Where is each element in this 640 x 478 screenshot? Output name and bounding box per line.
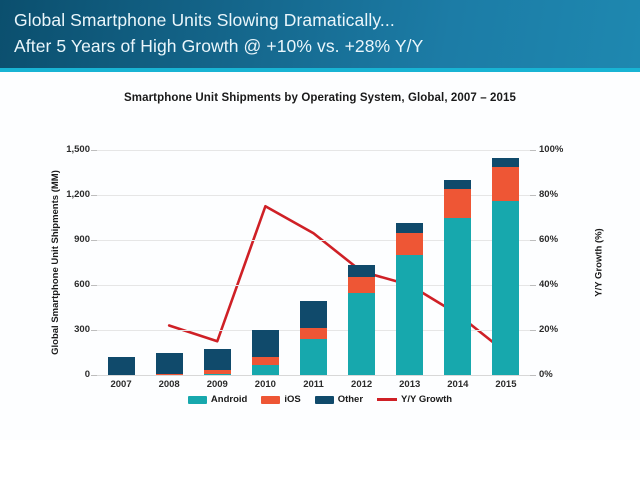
y-axis-right-tick-20: 20% <box>539 324 558 335</box>
legend-item-android[interactable]: Android <box>188 394 247 405</box>
bar-segment-other-2007 <box>108 357 135 375</box>
bar-segment-other-2011 <box>300 301 327 328</box>
y-axis-left-tick-600: 600 <box>74 279 90 290</box>
y-axis-right-tick-mark-0 <box>530 375 536 376</box>
legend-item-ios[interactable]: iOS <box>261 394 300 405</box>
bar-segment-other-2013 <box>396 223 423 233</box>
bar-2012[interactable] <box>348 265 375 375</box>
bar-2011[interactable] <box>300 301 327 375</box>
y-axis-left-tick-900: 900 <box>74 234 90 245</box>
bar-2009[interactable] <box>204 349 231 375</box>
y-axis-left-tick-300: 300 <box>74 324 90 335</box>
x-axis-tick-2014: 2014 <box>433 379 483 390</box>
legend-label-other: Other <box>338 394 363 405</box>
x-axis-tick-2015: 2015 <box>481 379 531 390</box>
x-axis-tick-2007: 2007 <box>96 379 146 390</box>
bar-segment-other-2014 <box>444 180 471 189</box>
bar-segment-android-2015 <box>492 201 519 375</box>
bar-2014[interactable] <box>444 180 471 375</box>
slide-footer: @KPCB Source: Morgan Stanley Research, 5… <box>0 440 640 478</box>
x-axis-tick-2010: 2010 <box>240 379 290 390</box>
gridline-1500 <box>97 150 530 151</box>
slide-body: Smartphone Unit Shipments by Operating S… <box>0 72 640 440</box>
y-axis-right-title-text: Y/Y Growth (%) <box>594 228 605 296</box>
bar-segment-ios-2015 <box>492 167 519 202</box>
x-axis-tick-2012: 2012 <box>337 379 387 390</box>
bar-2013[interactable] <box>396 223 423 375</box>
x-axis-tick-2008: 2008 <box>144 379 194 390</box>
y-axis-right-tick-60: 60% <box>539 234 558 245</box>
bar-segment-android-2011 <box>300 339 327 375</box>
y-axis-left-tick-mark-300 <box>91 330 97 331</box>
y-axis-right-tick-80: 80% <box>539 189 558 200</box>
bar-segment-ios-2010 <box>252 357 279 364</box>
y-axis-right-tick-100: 100% <box>539 144 563 155</box>
y-axis-left-tick-mark-1500 <box>91 150 97 151</box>
chart-title: Smartphone Unit Shipments by Operating S… <box>0 92 640 104</box>
y-axis-right-tick-mark-40 <box>530 285 536 286</box>
bar-segment-ios-2013 <box>396 233 423 256</box>
legend-label-growth: Y/Y Growth <box>401 394 452 405</box>
bar-segment-other-2015 <box>492 158 519 166</box>
x-axis-tick-2011: 2011 <box>289 379 339 390</box>
legend-swatch-ios-icon <box>261 396 280 404</box>
y-axis-right-tick-0: 0% <box>539 369 553 380</box>
header-title-line-1: Global Smartphone Units Slowing Dramatic… <box>14 7 640 33</box>
slide-header: Global Smartphone Units Slowing Dramatic… <box>0 0 640 68</box>
bar-segment-other-2009 <box>204 349 231 370</box>
y-axis-right-tick-mark-80 <box>530 195 536 196</box>
y-axis-left-tick-mark-1200 <box>91 195 97 196</box>
bar-segment-other-2008 <box>156 353 183 375</box>
bar-segment-ios-2012 <box>348 277 375 294</box>
legend-item-other[interactable]: Other <box>315 394 363 405</box>
plot-area: 03006009001,2001,5000%20%40%60%80%100%20… <box>97 150 530 375</box>
y-axis-left-tick-mark-0 <box>91 375 97 376</box>
legend-swatch-android-icon <box>188 396 207 404</box>
bar-2008[interactable] <box>156 353 183 375</box>
bar-segment-android-2014 <box>444 218 471 376</box>
chart-legend: Android iOS Other Y/Y Growth <box>0 394 640 405</box>
legend-swatch-growth-line-icon <box>377 398 397 401</box>
bar-segment-android-2012 <box>348 293 375 375</box>
y-axis-left-title: Global Smartphone Unit Shipments (MM) <box>48 150 62 375</box>
bar-segment-other-2012 <box>348 265 375 277</box>
bar-2015[interactable] <box>492 158 519 375</box>
y-axis-right-tick-mark-60 <box>530 240 536 241</box>
y-axis-left-tick-mark-600 <box>91 285 97 286</box>
legend-swatch-other-icon <box>315 396 334 404</box>
bar-segment-ios-2008 <box>156 374 183 375</box>
bar-2010[interactable] <box>252 330 279 375</box>
legend-label-ios: iOS <box>284 394 300 405</box>
y-axis-right-tick-mark-20 <box>530 330 536 331</box>
y-axis-left-tick-mark-900 <box>91 240 97 241</box>
x-axis-tick-2013: 2013 <box>385 379 435 390</box>
header-title-line-2: After 5 Years of High Growth @ +10% vs. … <box>14 33 640 59</box>
x-axis-tick-2009: 2009 <box>192 379 242 390</box>
gridline-0 <box>97 375 530 376</box>
y-axis-right-title: Y/Y Growth (%) <box>592 150 606 375</box>
bar-segment-ios-2011 <box>300 328 327 339</box>
legend-label-android: Android <box>211 394 247 405</box>
bar-segment-android-2009 <box>204 374 231 375</box>
y-axis-left-tick-0: 0 <box>85 369 90 380</box>
y-axis-right-tick-mark-100 <box>530 150 536 151</box>
bar-segment-ios-2014 <box>444 189 471 218</box>
y-axis-left-title-text: Global Smartphone Unit Shipments (MM) <box>50 170 61 355</box>
y-axis-left-tick-1200: 1,200 <box>66 189 90 200</box>
bar-2007[interactable] <box>108 357 135 375</box>
bar-segment-android-2010 <box>252 365 279 376</box>
bar-segment-android-2013 <box>396 255 423 375</box>
y-axis-left-tick-1500: 1,500 <box>66 144 90 155</box>
legend-item-growth[interactable]: Y/Y Growth <box>377 394 452 405</box>
y-axis-right-tick-40: 40% <box>539 279 558 290</box>
bar-segment-other-2010 <box>252 330 279 357</box>
